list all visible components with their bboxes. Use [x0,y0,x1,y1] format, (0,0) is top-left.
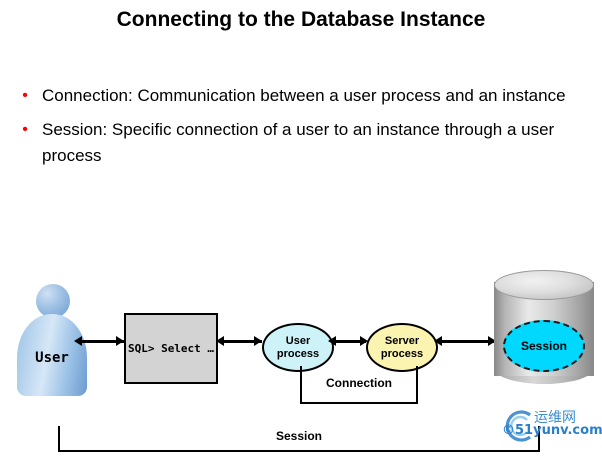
session-node: Session [503,320,585,372]
user-process-node: User process [262,323,334,372]
cylinder-top-shape [494,270,594,300]
arrow-head-left-icon [328,336,336,346]
sql-prompt-box: SQL> Select … [124,313,218,384]
server-process-label-line2: process [381,348,423,361]
database-cylinder-icon: Session [494,270,594,388]
user-label: User [16,350,88,366]
arrow-head-right-icon [254,336,262,346]
connection-bracket-label: Connection [296,376,422,390]
page-title: Connecting to the Database Instance [0,8,602,32]
bullet-marker-icon: • [8,117,42,143]
bullet-marker-icon: • [8,83,42,109]
arrow-head-left-icon [74,336,82,346]
bullet-text: Session: Specific connection of a user t… [42,117,598,169]
server-process-label-line1: Server [385,335,419,348]
session-bracket-label: Session [58,429,540,443]
server-process-node: Server process [366,323,438,372]
sql-prompt-text: SQL> Select … [128,342,214,355]
arrow-head-left-icon [434,336,442,346]
bullet-text: Connection: Communication between a user… [42,83,598,109]
user-head-shape [36,284,70,318]
slide-canvas: Connecting to the Database Instance • Co… [0,0,602,456]
list-item: • Session: Specific connection of a user… [8,117,598,169]
connector-server-process-to-database [438,340,494,343]
arrow-head-right-icon [116,336,124,346]
architecture-diagram: User SQL> Select … User process Server p… [0,258,602,456]
user-process-label-line2: process [277,348,319,361]
session-node-label: Session [521,339,567,353]
user-process-label-line1: User [286,335,310,348]
list-item: • Connection: Communication between a us… [8,83,598,109]
arrow-head-left-icon [216,336,224,346]
bullet-list: • Connection: Communication between a us… [8,83,598,177]
